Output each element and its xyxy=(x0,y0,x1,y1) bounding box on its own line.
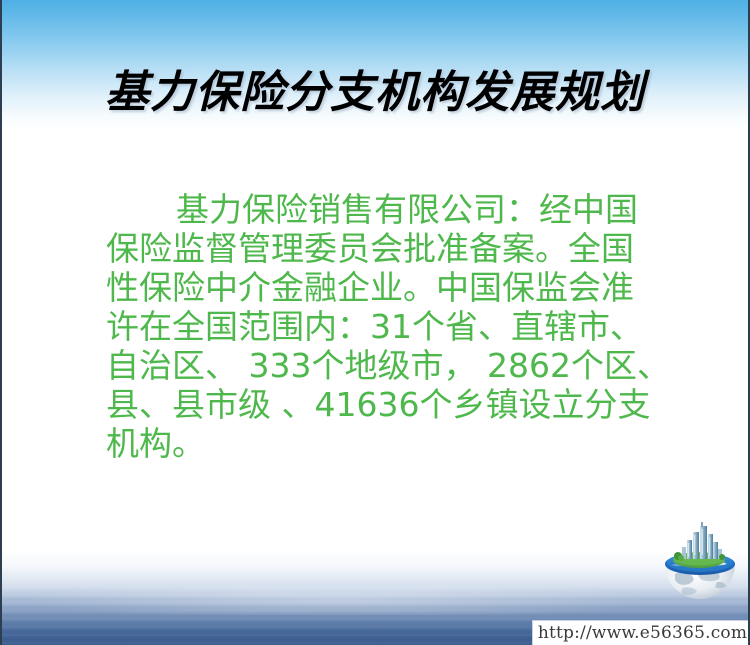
watermark-url-text: http://www.e56365.com xyxy=(538,623,747,643)
water-sheen xyxy=(2,585,748,615)
watermark-url-box: http://www.e56365.com xyxy=(532,620,750,645)
globe-icon xyxy=(657,516,743,602)
body-line: 保险监督管理委员会批准备案。全国 xyxy=(106,229,678,268)
body-line: 机构。 xyxy=(106,424,678,463)
body-line: 自治区、 333个地级市， 2862个区、 xyxy=(106,346,678,385)
body-line: 基力保险销售有限公司：经中国 xyxy=(106,190,678,229)
presentation-slide: 基力保险分支机构发展规划 基力保险销售有限公司：经中国 保险监督管理委员会批准备… xyxy=(0,0,750,645)
green-city-globe-logo xyxy=(657,516,743,602)
body-line: 许在全国范围内：31个省、直辖市、 xyxy=(106,307,678,346)
body-line: 县、县市级 、41636个乡镇设立分支 xyxy=(106,385,678,424)
body-line: 性保险中介金融企业。中国保监会准 xyxy=(106,268,678,307)
slide-body-text: 基力保险销售有限公司：经中国 保险监督管理委员会批准备案。全国 性保险中介金融企… xyxy=(106,190,678,463)
slide-title: 基力保险分支机构发展规划 xyxy=(2,56,748,120)
